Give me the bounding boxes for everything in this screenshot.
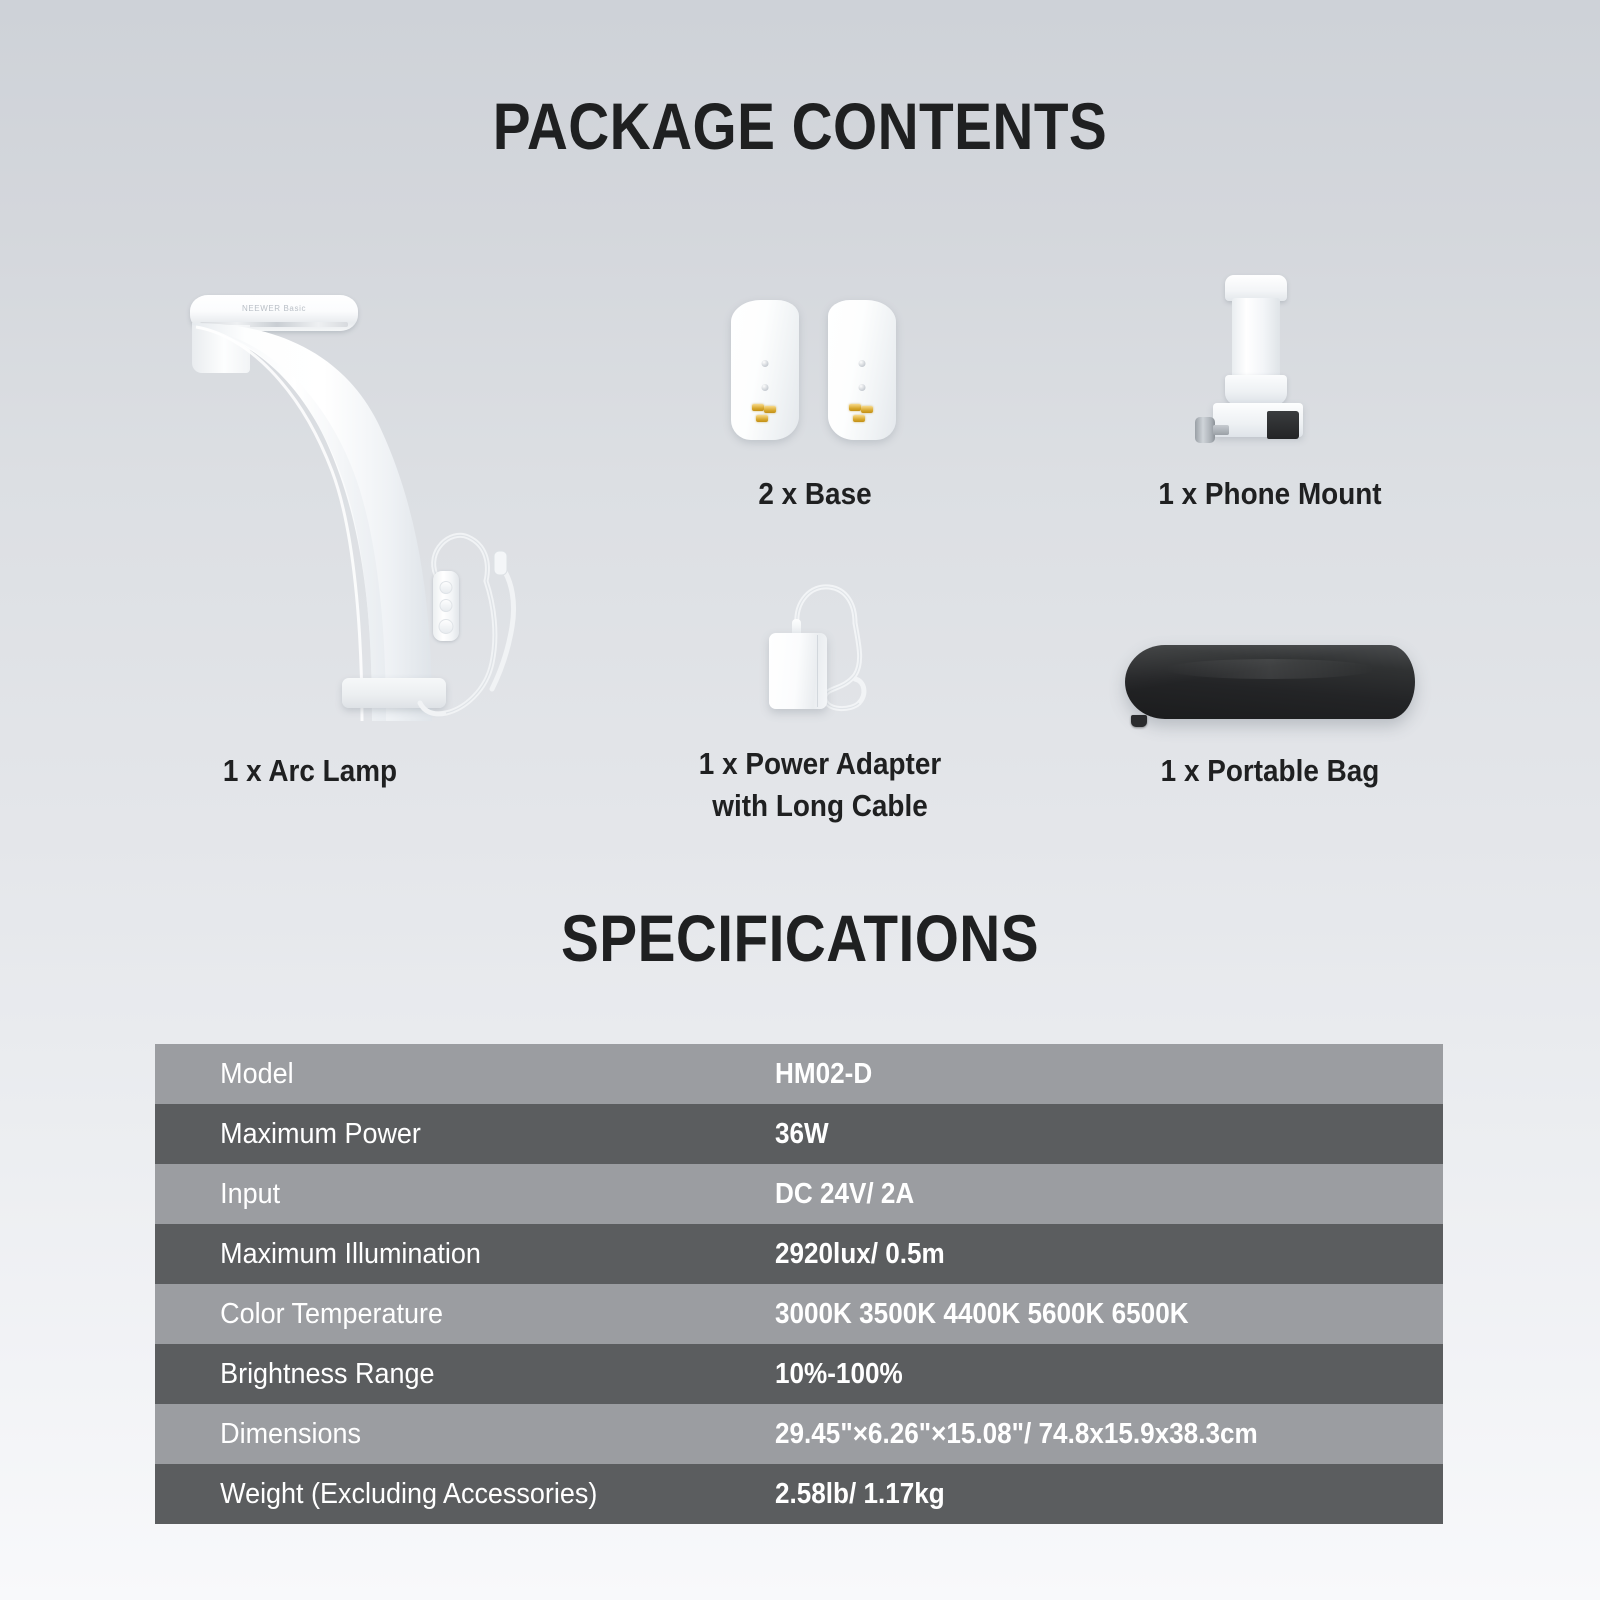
spec-label: Dimensions bbox=[155, 1418, 732, 1451]
spec-value: 2.58lb/ 1.17kg bbox=[775, 1478, 1376, 1511]
base-connector-icon bbox=[849, 404, 875, 424]
arc-lamp-label: 1 x Arc Lamp bbox=[162, 750, 459, 792]
spec-value: 3000K 3500K 4400K 5600K 6500K bbox=[775, 1298, 1376, 1331]
lamp-brand-label: NEEWER Basic bbox=[242, 304, 306, 313]
controller-button-mode[interactable] bbox=[440, 599, 453, 612]
package-contents-heading: PACKAGE CONTENTS bbox=[112, 88, 1488, 164]
controller-button-dimmer[interactable] bbox=[439, 619, 454, 634]
spec-value: 36W bbox=[775, 1118, 1376, 1151]
base-screw-icon bbox=[859, 384, 866, 391]
spec-label: Input bbox=[155, 1178, 732, 1211]
base-label: 2 x Base bbox=[680, 473, 950, 515]
power-adapter-brick bbox=[769, 633, 827, 709]
portable-bag-body bbox=[1125, 645, 1415, 719]
base-connector-icon bbox=[752, 404, 778, 424]
spec-value: DC 24V/ 2A bbox=[775, 1178, 1376, 1211]
power-adapter-label-line1: 1 x Power Adapter bbox=[699, 746, 941, 781]
controller-button-power[interactable] bbox=[440, 581, 453, 594]
table-row: Maximum Illumination 2920lux/ 0.5m bbox=[155, 1224, 1443, 1284]
spec-label: Weight (Excluding Accessories) bbox=[155, 1478, 732, 1511]
phone-mount-thumbscrew-knob[interactable] bbox=[1195, 417, 1229, 443]
spec-label: Color Temperature bbox=[155, 1298, 732, 1331]
spec-label: Maximum Power bbox=[155, 1118, 732, 1151]
power-adapter-label: 1 x Power Adapter with Long Cable bbox=[658, 743, 982, 827]
base-plates-image bbox=[725, 300, 910, 450]
base-screw-icon bbox=[762, 384, 769, 391]
phone-mount-label: 1 x Phone Mount bbox=[1135, 473, 1405, 515]
power-adapter-image bbox=[755, 575, 895, 720]
table-row: Input DC 24V/ 2A bbox=[155, 1164, 1443, 1224]
spec-value: 10%-100% bbox=[775, 1358, 1376, 1391]
spec-value: 2920lux/ 0.5m bbox=[775, 1238, 1376, 1271]
specifications-table: Model HM02-D Maximum Power 36W Input DC … bbox=[155, 1044, 1443, 1524]
specifications-heading: SPECIFICATIONS bbox=[112, 900, 1488, 976]
spec-label: Model bbox=[155, 1058, 732, 1091]
portable-bag-zipper-pull bbox=[1131, 715, 1147, 727]
phone-mount-bottom-jaw bbox=[1225, 375, 1287, 405]
arc-lamp-image: NEEWER Basic bbox=[170, 285, 530, 725]
portable-bag-image bbox=[1125, 645, 1415, 725]
spec-value: HM02-D bbox=[775, 1058, 1376, 1091]
spec-label: Maximum Illumination bbox=[155, 1238, 732, 1271]
base-plate-right bbox=[828, 300, 896, 440]
table-row: Brightness Range 10%-100% bbox=[155, 1344, 1443, 1404]
lamp-inline-controller[interactable] bbox=[433, 571, 459, 641]
phone-mount-body bbox=[1232, 298, 1280, 382]
phone-mount-clamp-pad bbox=[1267, 411, 1299, 439]
phone-mount-image bbox=[1195, 275, 1345, 450]
portable-bag-seam bbox=[1165, 659, 1375, 679]
table-row: Dimensions 29.45"×6.26"×15.08"/ 74.8x15.… bbox=[155, 1404, 1443, 1464]
base-screw-icon bbox=[762, 360, 769, 367]
table-row: Weight (Excluding Accessories) 2.58lb/ 1… bbox=[155, 1464, 1443, 1524]
table-row: Model HM02-D bbox=[155, 1044, 1443, 1104]
table-row: Color Temperature 3000K 3500K 4400K 5600… bbox=[155, 1284, 1443, 1344]
spec-label: Brightness Range bbox=[155, 1358, 732, 1391]
lamp-power-cable bbox=[406, 523, 530, 723]
spec-value: 29.45"×6.26"×15.08"/ 74.8x15.9x38.3cm bbox=[775, 1418, 1376, 1451]
base-plate-left bbox=[731, 300, 799, 440]
table-row: Maximum Power 36W bbox=[155, 1104, 1443, 1164]
base-screw-icon bbox=[859, 360, 866, 367]
portable-bag-label: 1 x Portable Bag bbox=[1135, 750, 1405, 792]
power-adapter-label-line2: with Long Cable bbox=[712, 788, 927, 823]
